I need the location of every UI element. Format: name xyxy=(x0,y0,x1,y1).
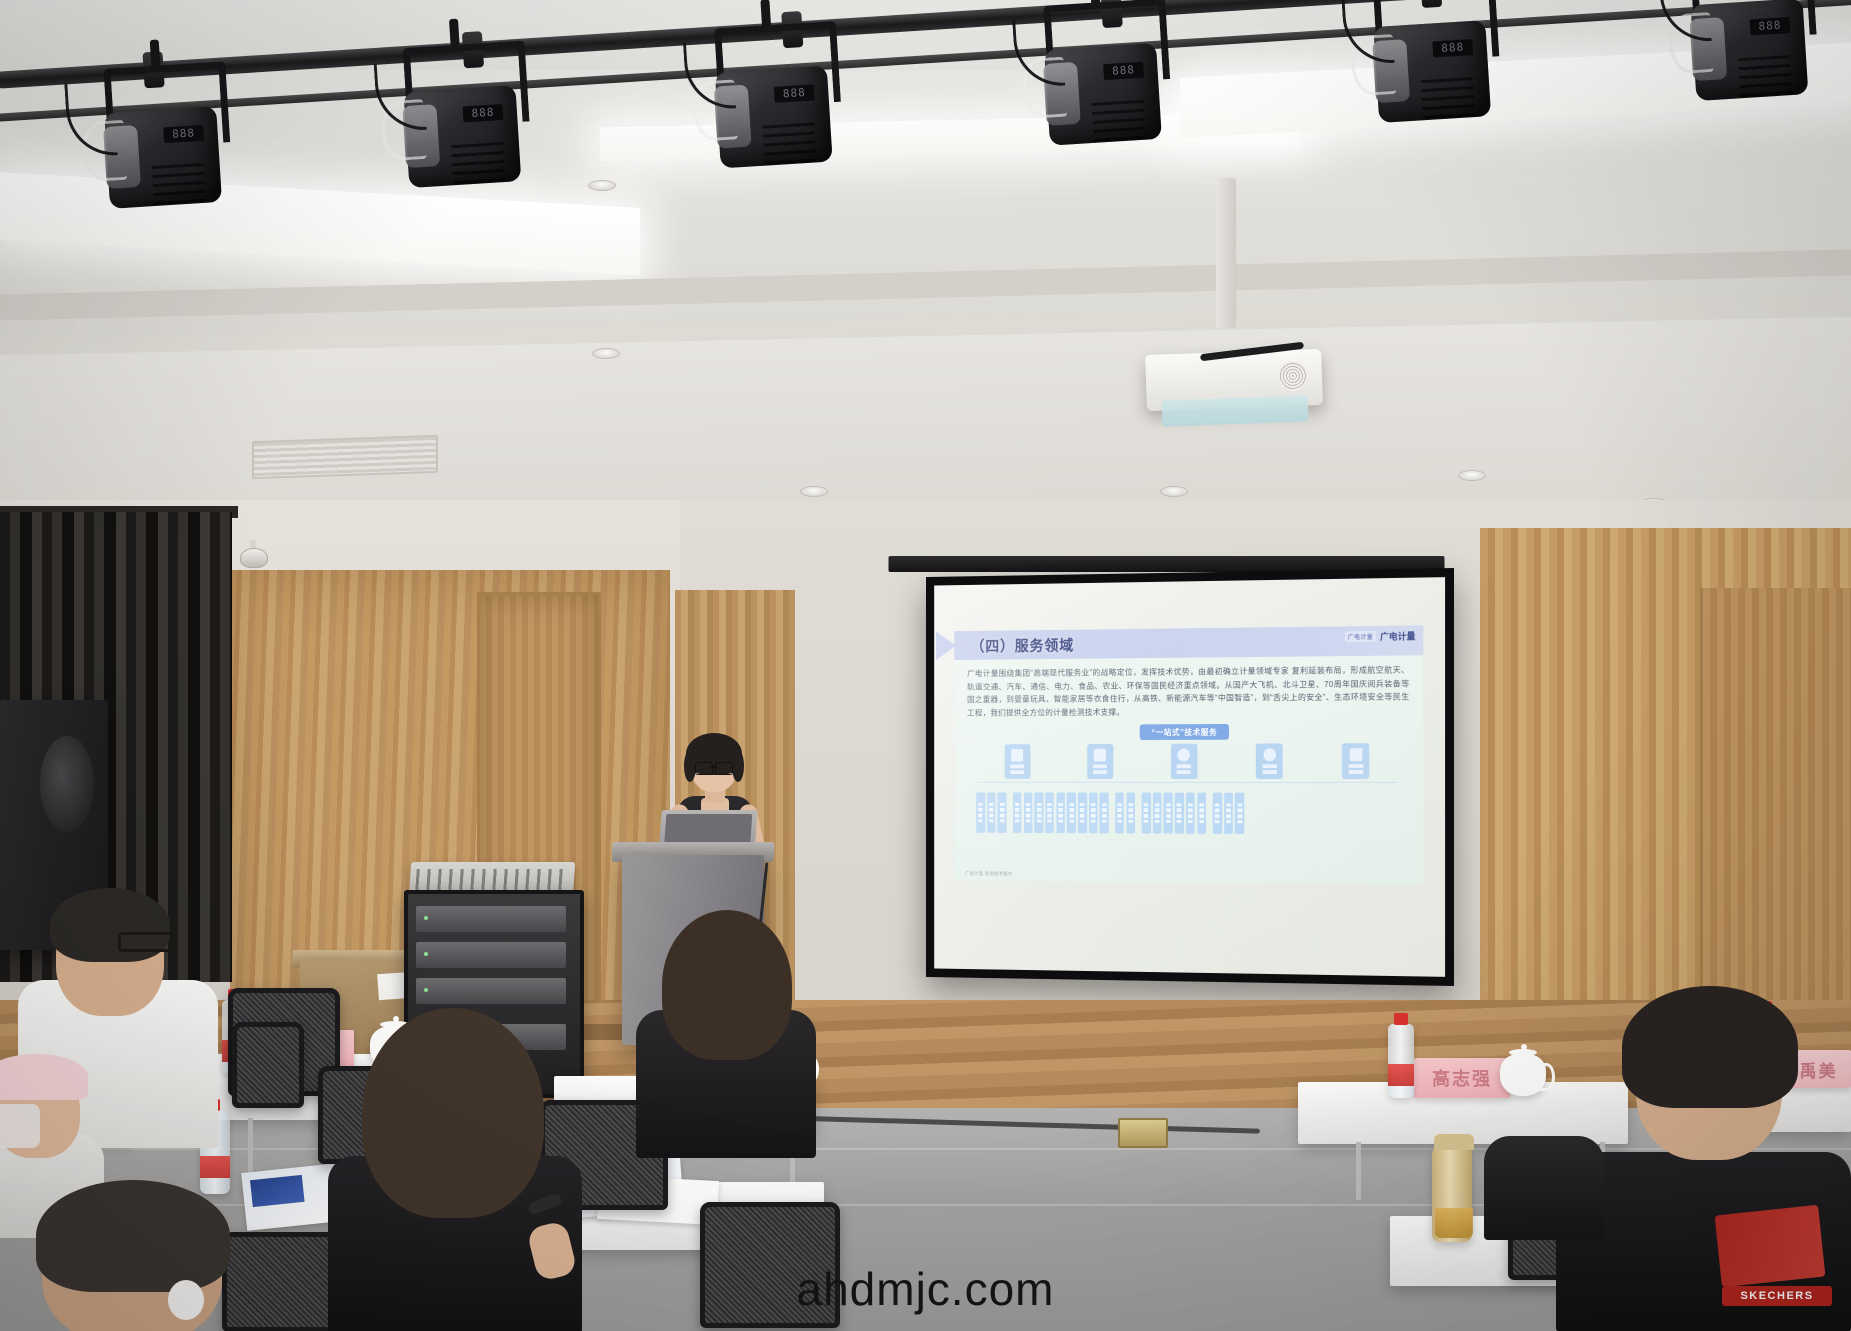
slide-chip xyxy=(1235,793,1244,834)
security-camera-icon xyxy=(240,548,268,568)
projector-lens xyxy=(1162,395,1309,426)
audience-hair xyxy=(362,1008,544,1218)
spotlight-fins xyxy=(451,142,505,185)
mixer-knobs-icon xyxy=(415,869,569,891)
slide-logo-text: 广电计量 xyxy=(1380,629,1415,642)
audience-member xyxy=(636,912,816,1152)
audience-member xyxy=(1484,1040,1604,1220)
chip-group xyxy=(1142,793,1206,834)
slide-connector-line xyxy=(978,782,1398,791)
eyeglasses-icon xyxy=(695,762,733,773)
ceiling-air-vent xyxy=(252,435,438,479)
slide-brand-logo: 广电计量 广电计量 xyxy=(1345,629,1416,643)
presenter-hair-side xyxy=(732,750,744,782)
spotlight-display: 888 xyxy=(1432,39,1473,57)
recessed-downlight-icon xyxy=(800,486,828,497)
target-icon xyxy=(1256,743,1283,778)
slide-chip xyxy=(998,792,1007,832)
chip-group xyxy=(1013,792,1109,833)
slide-body: 广电计量围绕集团“高端现代服务业”的战略定位，发挥技术优势，由最初确立计量领域专… xyxy=(954,655,1423,835)
slide-paragraph: 广电计量围绕集团“高端现代服务业”的战略定位，发挥技术优势，由最初确立计量领域专… xyxy=(967,663,1409,719)
slide-header: （四）服务领域 广电计量 广电计量 xyxy=(954,625,1423,660)
recessed-downlight-icon xyxy=(1458,470,1486,481)
projection-screen-frame: （四）服务领域 广电计量 广电计量 广电计量围绕集团“高端现代服务业”的战略定位… xyxy=(926,568,1454,986)
slide-logo-badge: 广电计量 xyxy=(1345,631,1376,642)
slide-chip xyxy=(1197,793,1206,834)
spotlight-fins xyxy=(1092,100,1146,143)
slide-chip xyxy=(1142,793,1151,834)
slide-arrow-icon xyxy=(936,631,956,660)
slide-chip xyxy=(987,792,996,832)
slide-chip xyxy=(1224,793,1233,834)
certificate-icon xyxy=(1171,744,1198,779)
slide-chip xyxy=(1126,793,1135,834)
slide-category xyxy=(1342,743,1369,779)
slide-chip xyxy=(1078,793,1087,834)
face-mask xyxy=(0,1104,40,1148)
slide-chip xyxy=(1013,792,1022,833)
slide-chip xyxy=(1024,792,1033,833)
table-leg xyxy=(1356,1142,1361,1200)
chip-icon xyxy=(1087,744,1113,779)
ceiling-light-strip xyxy=(0,172,640,276)
spotlight-display: 888 xyxy=(774,84,815,102)
spotlight-fins xyxy=(152,163,206,206)
slide-chip xyxy=(1089,793,1098,834)
chip-group xyxy=(976,792,1006,833)
slide-chip xyxy=(976,792,985,832)
slide-title: （四）服务领域 xyxy=(971,634,1074,655)
slide-chip xyxy=(1153,793,1162,834)
spotlight-display: 888 xyxy=(1103,62,1144,80)
slide-chip xyxy=(1045,792,1054,833)
recessed-downlight-icon xyxy=(588,180,616,191)
recessed-downlight-icon xyxy=(592,348,620,359)
slide-pill-label: “一站式”技术服务 xyxy=(1140,724,1229,740)
slide-chip xyxy=(1056,792,1065,833)
projector-mount xyxy=(1216,178,1236,328)
slide-category xyxy=(1004,744,1030,779)
floor-outlet-box xyxy=(1118,1118,1168,1148)
projection-screen: （四）服务领域 广电计量 广电计量 广电计量围绕集团“高端现代服务业”的战略定位… xyxy=(934,577,1445,977)
slide-chip xyxy=(1034,792,1043,833)
slide-chip xyxy=(1175,793,1184,834)
table-leg xyxy=(248,1118,253,1178)
chip-group xyxy=(1213,793,1244,834)
room-door-right[interactable] xyxy=(1700,588,1851,1018)
slide-category-row xyxy=(967,743,1409,779)
conference-room-photo: 888 888 888 xyxy=(0,0,1851,1331)
slide-category xyxy=(1087,744,1113,779)
slide-pill-row: “一站式”技术服务 xyxy=(967,723,1409,740)
chip-group xyxy=(1115,793,1135,834)
aircraft-icon xyxy=(1004,744,1030,779)
slide-chip xyxy=(1115,793,1124,834)
monitor-icon xyxy=(1342,743,1369,779)
spotlight-fins xyxy=(1738,55,1792,98)
slide-chip-row xyxy=(967,792,1409,834)
spotlight-display: 888 xyxy=(462,104,503,122)
slide-chip xyxy=(1100,793,1109,834)
slide-chip xyxy=(1067,792,1076,833)
spotlight-display: 888 xyxy=(1750,17,1791,35)
audience-torso xyxy=(1484,1136,1604,1240)
slide-chip xyxy=(1213,793,1222,834)
recessed-downlight-icon xyxy=(1160,486,1188,497)
spotlight-display: 888 xyxy=(163,125,204,143)
audience-hair xyxy=(662,910,792,1060)
pink-cap xyxy=(0,1054,88,1100)
presentation-slide: （四）服务领域 广电计量 广电计量 广电计量围绕集团“高端现代服务业”的战略定位… xyxy=(954,625,1423,884)
speaker-cone-icon xyxy=(40,736,94,832)
slide-footer-note: 广电计量 检测技术服务 xyxy=(965,871,1012,877)
spotlight-fins xyxy=(1421,77,1475,120)
eyeglasses-icon xyxy=(118,932,174,952)
projector-vent-icon xyxy=(1277,360,1308,391)
slide-chip xyxy=(1186,793,1195,834)
water-bottle xyxy=(1388,1024,1414,1098)
booklet-cover xyxy=(250,1175,304,1207)
slide-category xyxy=(1171,744,1198,779)
watermark-text: ahdmjc.com xyxy=(0,1262,1851,1316)
slide-category xyxy=(1256,743,1283,778)
slide-chip xyxy=(1164,793,1173,834)
spotlight-fins xyxy=(762,122,816,165)
audience-hair xyxy=(1622,986,1798,1108)
office-chair[interactable] xyxy=(232,1022,304,1108)
thermos-bottle xyxy=(1432,1146,1472,1242)
